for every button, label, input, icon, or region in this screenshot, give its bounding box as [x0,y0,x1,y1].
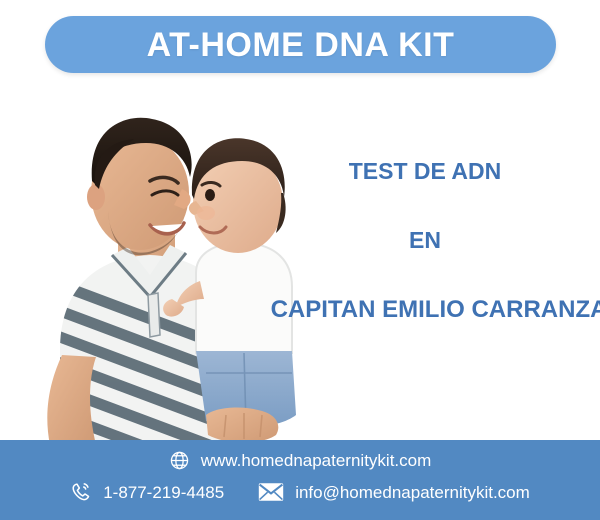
footer-row-phone-email: 1-877-219-4485 info@homednapaternitykit.… [0,474,600,510]
header-banner: AT-HOME DNA KIT [45,16,556,73]
headline-block: TEST DE ADN EN CAPITAN EMILIO CARRANZA [250,160,600,322]
footer-phone-text: 1-877-219-4485 [103,484,224,501]
poster-canvas: AT-HOME DNA KIT [0,0,600,520]
phone-icon [70,481,92,503]
headline-line-1: TEST DE ADN [250,160,600,183]
footer-contact-bar: www.homednapaternitykit.com 1-877-219-44… [0,440,600,520]
globe-icon [169,450,190,471]
header-banner-title: AT-HOME DNA KIT [147,28,455,62]
envelope-icon [258,482,284,502]
headline-line-3-location: CAPITAN EMILIO CARRANZA [264,298,600,322]
headline-line-2: EN [250,229,600,252]
footer-website-item[interactable]: www.homednapaternitykit.com [169,450,432,471]
footer-phone-item[interactable]: 1-877-219-4485 [70,481,224,503]
footer-row-website: www.homednapaternitykit.com [0,440,600,474]
footer-website-text: www.homednapaternitykit.com [201,452,432,469]
footer-email-text: info@homednapaternitykit.com [295,484,530,501]
footer-email-item[interactable]: info@homednapaternitykit.com [258,482,530,502]
